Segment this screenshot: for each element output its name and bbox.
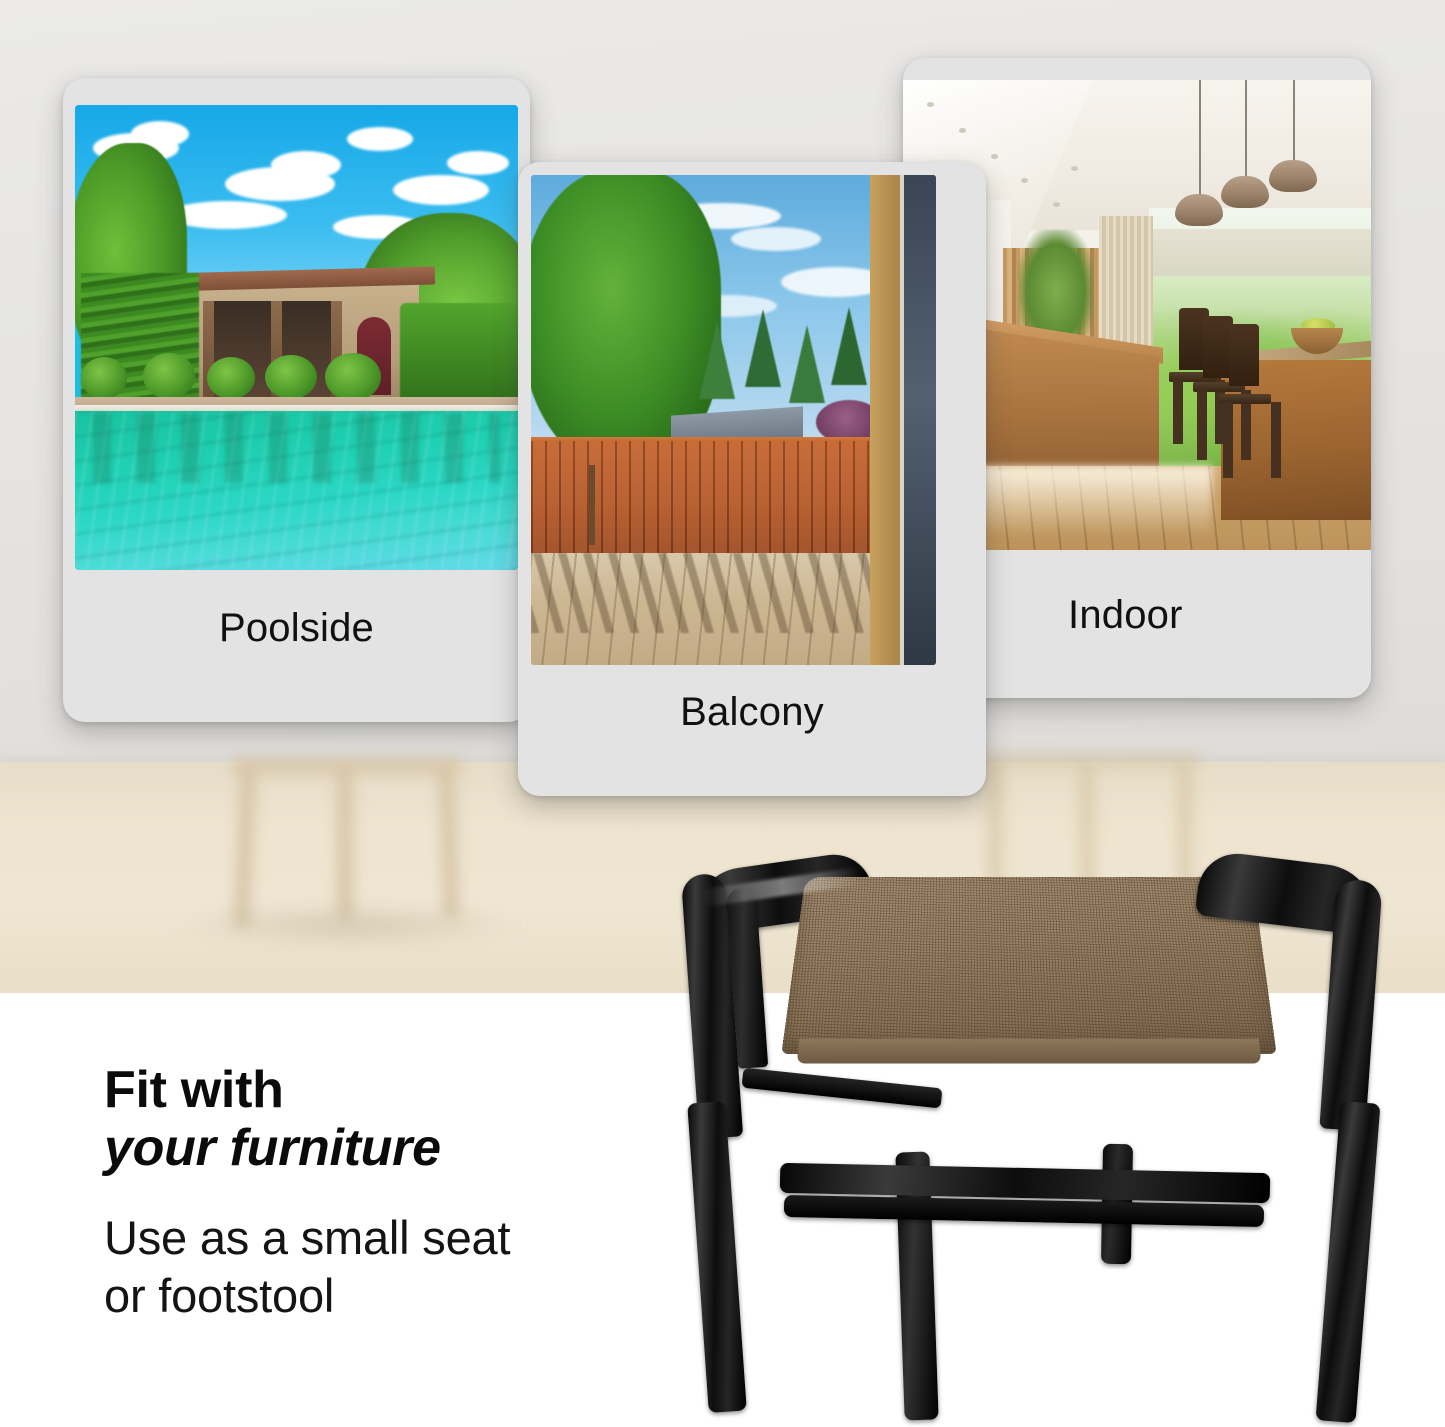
card-label-poolside: Poolside	[63, 606, 530, 651]
subcopy: Use as a small seat or footstool	[104, 1209, 724, 1324]
ottoman-sling-front-edge	[797, 1039, 1261, 1064]
copy-block: Fit with your furniture Use as a small s…	[104, 1061, 724, 1324]
poolside-photo	[75, 105, 518, 570]
subcopy-line-1: Use as a small seat	[104, 1209, 724, 1266]
background-floor-shadow	[170, 905, 530, 945]
card-label-balcony: Balcony	[518, 690, 986, 735]
use-case-card-balcony[interactable]: Balcony	[518, 162, 986, 796]
ottoman-rear-rail	[742, 1068, 943, 1109]
product-infographic: Poolside	[0, 0, 1445, 1427]
ottoman-front-right-leg	[1316, 1101, 1381, 1423]
headline: Fit with your furniture	[104, 1061, 724, 1177]
lifestyle-scene: Poolside	[0, 0, 1445, 993]
use-case-card-poolside[interactable]: Poolside	[63, 78, 530, 722]
headline-line-1: Fit with	[104, 1061, 284, 1119]
ottoman-front-left-leg	[687, 1101, 747, 1413]
product-ottoman	[672, 852, 1392, 1427]
headline-line-2: your furniture	[104, 1119, 724, 1177]
subcopy-line-2: or footstool	[104, 1267, 724, 1324]
balcony-photo	[531, 175, 936, 665]
